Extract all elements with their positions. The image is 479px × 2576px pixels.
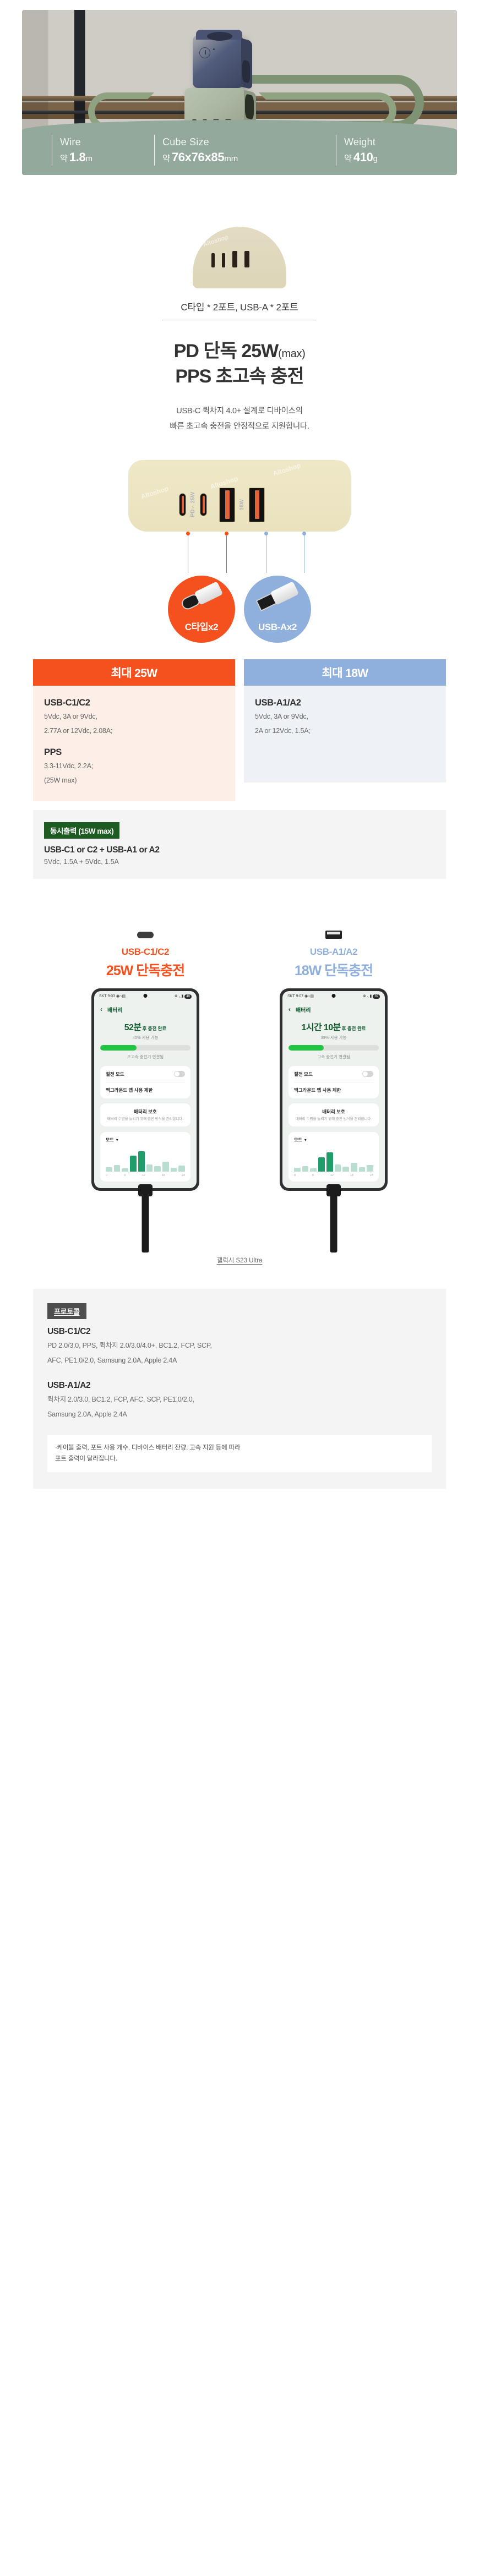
phone-status-bar: SKT 9:07 ◉⌂▤ ⊗ ◟ ▮ 39 [282,991,385,1000]
usage-chart-panel: 모드 ▾ 06121824 [289,1132,379,1182]
battery-badge: 39 [373,994,380,999]
cable-right [251,1191,416,1253]
chart-label: 모드 [294,1137,302,1143]
ports-intro-section: Altoshop C타입 * 2포트, USB-A * 2포트 PD 단독 25… [0,175,479,435]
spec-unit: m [86,154,93,163]
divider [162,320,317,320]
status-right: ⊗ ◟ ▮ 40 [175,994,192,999]
battery-settings-screen: ‹ 배터리 52분후 충전 완료 40% 사용 가능 초고속 충전기 연결됨 [94,1000,197,1188]
phone-status-bar: SKT 9:03 ◉⌂▤ ⊗ ◟ ▮ 40 [94,991,197,1000]
spec-approx: 약 [162,154,170,163]
spec-weight: Weight 약410g [336,135,435,166]
plug-label: C타입x2 [185,619,218,633]
leader-line-c1 [188,535,188,573]
setting-row-power-save[interactable]: 절전 모드 [294,1071,373,1078]
plug-badge-usb-c: C타입x2 [168,576,235,643]
card-section-line: 3.3-11Vdc, 2.2A; [44,761,224,773]
leader-lines [128,532,351,573]
battery-progress-bar [100,1045,190,1051]
wifi-icon: ◟ [367,994,369,998]
plug-badge-usb-a: USB-Ax2 [244,576,311,643]
eta-suffix: 후 충전 완료 [142,1026,166,1031]
simultaneous-badge: 동시출력 (15W max) [44,822,119,839]
clock-label: 9:03 [107,994,115,998]
toggle-switch[interactable] [362,1071,373,1077]
usage-bars [294,1147,373,1172]
simultaneous-title: USB-C1 or C2 + USB-A1 or A2 [44,845,435,855]
phone-mockup: SKT 9:07 ◉⌂▤ ⊗ ◟ ▮ 39 [280,988,388,1191]
leader-line-a2 [304,535,304,573]
wifi-icon: ◟ [179,994,181,998]
setting-row-power-save[interactable]: 절전 모드 [106,1071,185,1078]
signal-icon: ▮ [370,994,372,998]
card-section-line: 2A or 12Vdc, 1.5A; [255,725,435,737]
spec-card-usb-c: 최대 25W USB-C1/C2 5Vdc, 3A or 9Vdc, 2.77A… [33,659,235,801]
protocol-group-title: USB-C1/C2 [47,1327,432,1337]
spec-cube-size: Cube Size 약76x76x85mm [154,135,336,166]
leader-dot-c1 [186,532,190,535]
leader-dot-c2 [225,532,228,535]
hero-image: Wire 약1.8m Cube Size 약76x76x85mm Weight … [22,10,457,175]
protocol-group-line: 퀵차지 2.0/3.0, BC1.2, FCP, AFC, SCP, PE1.0… [47,1393,432,1405]
protocol-group-line: PD 2.0/3.0, PPS, 퀵차지 2.0/3.0/4.0+, BC1.2… [47,1339,432,1352]
comparison-column-usb-a: USB-A1/A2 18W 단독충전 SKT 9:07 ◉⌂▤ ⊗ [251,927,416,1191]
device-face-photo: Altoshop Altoshop Altoshop PD⚡25W 18W [128,460,351,532]
settings-panel: 절전 모드 백그라운드 앱 사용 제한 [289,1066,379,1098]
carrier-label: SKT [99,994,107,998]
chevron-down-icon[interactable]: ▾ [116,1137,118,1142]
card-section-title: USB-A1/A2 [255,698,435,708]
headline-main: PD 단독 25W [174,341,279,362]
leader-line-a1 [266,535,266,573]
watermark: Altoshop [202,234,229,248]
card-section-line: 5Vdc, 3A or 9Vdc, [44,711,224,723]
status-left: SKT 9:07 ◉⌂▤ [287,994,314,998]
spec-unit: g [373,154,378,163]
footer-spacer [0,1489,479,1527]
usb-a-connector-icon [255,582,298,612]
ports-caption: C타입 * 2포트, USB-A * 2포트 [0,299,479,313]
usage-bars [106,1147,185,1172]
usb-c-connector-icon [179,582,222,612]
simultaneous-detail: 5Vdc, 1.5A + 5Vdc, 1.5A [44,858,435,866]
desc-line-2: 빠른 초고속 충전을 안정적으로 지원합니다. [0,419,479,434]
setting-label: 백그라운드 앱 사용 제한 [106,1087,153,1093]
device-port-row: PD⚡25W 18W [179,488,265,522]
desc-line-1: USB-C 퀵차지 4.0+ 설계로 디바이스의 [0,403,479,419]
setting-row-background-limit[interactable]: 백그라운드 앱 사용 제한 [106,1082,185,1093]
headline-description: USB-C 퀵차지 4.0+ 설계로 디바이스의 빠른 초고속 충전을 안정적으… [0,403,479,435]
card-header: 최대 18W [244,659,446,686]
note-line-1: ·케이블 출력, 포트 사용 개수, 디바이스 배터리 잔량, 고속 지원 등에… [55,1442,424,1454]
eta-value: 52분 [124,1023,141,1032]
cube-top-socket [207,32,232,41]
usage-chart-panel: 모드 ▾ 06121824 [100,1132,190,1182]
usb-cable-graphic [63,1191,228,1253]
panel-title: 배터리 보호 [106,1108,185,1115]
spec-value: 약76x76x85mm [162,150,336,165]
camera-punch-hole-icon [144,994,148,998]
chart-header[interactable]: 모드 ▾ [106,1137,185,1143]
panel-subtitle: 배터리 수명을 늘리기 위해 충전 방식을 관리합니다. [106,1117,185,1122]
cable-wire [142,1191,149,1253]
phone-screen: SKT 9:03 ◉⌂▤ ⊗ ◟ ▮ 40 [94,991,197,1188]
spec-label: Cube Size [162,136,336,149]
status-left: SKT 9:03 ◉⌂▤ [99,994,126,998]
toggle-switch[interactable] [174,1071,185,1077]
spec-wire: Wire 약1.8m [52,135,154,166]
comparison-columns: USB-C1/C2 25W 단독충전 SKT 9:03 ◉⌂▤ ⊗ [0,927,479,1191]
product-detail-page: Wire 약1.8m Cube Size 약76x76x85mm Weight … [0,0,479,1527]
protocol-group-title: USB-A1/A2 [47,1381,432,1391]
card-header: 최대 25W [33,659,235,686]
cable-left [63,1191,228,1253]
spec-number: 76x76x85 [172,150,224,164]
card-section-line: (25W max) [44,775,224,787]
eta-value: 1시간 10분 [302,1023,341,1032]
status-right: ⊗ ◟ ▮ 39 [363,994,380,999]
eta-suffix: 후 충전 완료 [342,1026,366,1031]
back-chevron-icon[interactable]: ‹ [289,1005,291,1013]
mute-icon: ⊗ [175,994,178,998]
watermark: Altoshop [272,461,302,477]
headline-line-1: PD 단독 25W(max) [0,339,479,364]
comparison-port-label: USB-A1/A2 [251,947,416,958]
usb-a-port-icon [244,251,249,267]
phone-screen: SKT 9:07 ◉⌂▤ ⊗ ◟ ▮ 39 [282,991,385,1188]
disclaimer-note: ·케이블 출력, 포트 사용 개수, 디바이스 배터리 잔량, 고속 지원 등에… [47,1435,432,1472]
comparison-port-label: USB-C1/C2 [63,947,228,958]
setting-label: 백그라운드 앱 사용 제한 [294,1087,341,1093]
usable-percent: 40% 사용 가능 [100,1035,190,1041]
mute-icon: ⊗ [363,994,366,998]
charging-comparison-section: USB-C1/C2 25W 단독충전 SKT 9:03 ◉⌂▤ ⊗ [0,927,479,1265]
battery-protection-panel[interactable]: 배터리 보호 배터리 수명을 늘리기 위해 충전 방식을 관리합니다. [100,1103,190,1126]
spec-number: 410 [353,150,373,164]
power-cube-blue [193,35,243,88]
led-indicator-icon [213,48,215,50]
spec-unit: mm [224,154,238,163]
charge-eta: 1시간 10분후 충전 완료 [289,1020,379,1033]
leader-line-c2 [226,535,227,573]
port-diagram-section: Altoshop Altoshop Altoshop PD⚡25W 18W [0,460,479,643]
screen-title: 배터리 [296,1005,311,1014]
carrier-label: SKT [287,994,295,998]
hero-spec-bar: Wire 약1.8m Cube Size 약76x76x85mm Weight … [22,120,457,175]
camera-punch-hole-icon [332,994,336,998]
status-icons: ◉⌂▤ [304,994,314,998]
cable-row [0,1191,479,1253]
usb-c-port-icon [200,493,207,516]
usb-cable-graphic [251,1191,416,1253]
spec-approx: 약 [344,154,352,163]
back-chevron-icon[interactable]: ‹ [100,1005,102,1013]
chart-axis: 06121824 [294,1174,373,1177]
18w-label: 18W [239,499,245,511]
settings-panel: 절전 모드 백그라운드 앱 사용 제한 [100,1066,190,1098]
panel-title: 배터리 보호 [294,1108,373,1115]
usb-a-port-icon [219,488,235,522]
status-icons: ◉⌂▤ [116,994,126,998]
headline-line-2: PPS 초고속 충전 [0,364,479,390]
pd-25w-label: PD⚡25W [190,492,196,517]
battery-badge: 40 [184,994,192,999]
cable-wire [330,1191,338,1253]
protocol-group-line: AFC, PE1.0/2.0, Samsung 2.0A, Apple 2.4A [47,1354,432,1366]
screen-nav: ‹ 배터리 [289,1005,379,1014]
test-device-note: 갤럭시 S23 Ultra [0,1256,479,1265]
usb-c-port-icon [211,253,215,267]
cube-side-socket [245,94,254,120]
spec-value: 약1.8m [60,150,154,165]
charger-status: 고속 충전기 연결됨 [289,1054,379,1060]
card-body: USB-A1/A2 5Vdc, 3A or 9Vdc, 2A or 12Vdc,… [244,686,446,783]
spec-card-usb-a: 최대 18W USB-A1/A2 5Vdc, 3A or 9Vdc, 2A or… [244,659,446,801]
usb-a-icon [251,927,416,943]
chart-label: 모드 [106,1137,114,1143]
headline-sub: (max) [278,348,305,360]
power-button-icon [199,47,210,58]
comparison-title: 25W 단독충전 [63,960,228,980]
simultaneous-output-box: 동시출력 (15W max) USB-C1 or C2 + USB-A1 or … [33,810,446,879]
leader-dot-a1 [264,532,268,535]
leader-dot-a2 [302,532,306,535]
spec-cards: 최대 25W USB-C1/C2 5Vdc, 3A or 9Vdc, 2.77A… [0,659,479,801]
panel-subtitle: 배터리 수명을 늘리기 위해 충전 방식을 관리합니다. [294,1117,373,1122]
note-line-2: 포트 출력이 달라집니다. [55,1453,424,1465]
plug-badges: C타입x2 USB-Ax2 [33,576,446,643]
battery-progress-bar [289,1045,379,1051]
card-section-title: PPS [44,747,224,758]
chevron-down-icon[interactable]: ▾ [304,1137,307,1142]
usb-a-port-icon [249,488,265,522]
usb-c-icon [63,927,228,943]
card-section-title: USB-C1/C2 [44,698,224,708]
protocol-badge: 프로토콜 [47,1303,86,1319]
phone-mockup: SKT 9:03 ◉⌂▤ ⊗ ◟ ▮ 40 [91,988,199,1191]
setting-label: 절전 모드 [106,1071,124,1078]
screen-title: 배터리 [107,1005,123,1014]
headline-block: PD 단독 25W(max) PPS 초고속 충전 [0,339,479,389]
clock-label: 9:07 [296,994,303,998]
plug-label: USB-Ax2 [258,622,297,633]
spec-label: Wire [60,136,154,149]
signal-icon: ▮ [182,994,184,998]
usable-percent: 39% 사용 가능 [289,1035,379,1041]
protocol-group-line: Samsung 2.0A, Apple 2.4A [47,1408,432,1420]
screen-nav: ‹ 배터리 [100,1005,190,1014]
spec-value: 약410g [344,150,435,165]
usb-c-port-icon [179,493,186,516]
protocol-section: 프로토콜 USB-C1/C2 PD 2.0/3.0, PPS, 퀵차지 2.0/… [33,1289,446,1489]
battery-settings-screen: ‹ 배터리 1시간 10분후 충전 완료 39% 사용 가능 고속 충전기 연결… [282,1000,385,1188]
hero-section: Wire 약1.8m Cube Size 약76x76x85mm Weight … [0,0,479,175]
spec-number: 1.8 [69,150,86,164]
chart-header[interactable]: 모드 ▾ [294,1137,373,1143]
ports-closeup-photo: Altoshop [193,227,286,288]
charge-eta: 52분후 충전 완료 [100,1020,190,1033]
card-body: USB-C1/C2 5Vdc, 3A or 9Vdc, 2.77A or 12V… [33,686,235,801]
card-section-line: 2.77A or 12Vdc, 2.08A; [44,725,224,737]
card-section-line: 5Vdc, 3A or 9Vdc, [255,711,435,723]
watermark: Altoshop [140,484,170,500]
setting-row-background-limit[interactable]: 백그라운드 앱 사용 제한 [294,1082,373,1093]
comparison-title: 18W 단독충전 [251,960,416,980]
spec-approx: 약 [60,154,68,163]
spec-label: Weight [344,136,435,149]
setting-label: 절전 모드 [294,1071,313,1078]
comparison-column-usb-c: USB-C1/C2 25W 단독충전 SKT 9:03 ◉⌂▤ ⊗ [63,927,228,1191]
cube-side-socket [242,59,250,83]
chart-axis: 06121824 [106,1174,185,1177]
battery-protection-panel[interactable]: 배터리 보호 배터리 수명을 늘리기 위해 충전 방식을 관리합니다. [289,1103,379,1126]
charger-status: 초고속 충전기 연결됨 [100,1054,190,1060]
usb-a-port-icon [232,251,237,267]
port-slot-group [211,251,249,267]
usb-c-port-icon [222,253,225,267]
